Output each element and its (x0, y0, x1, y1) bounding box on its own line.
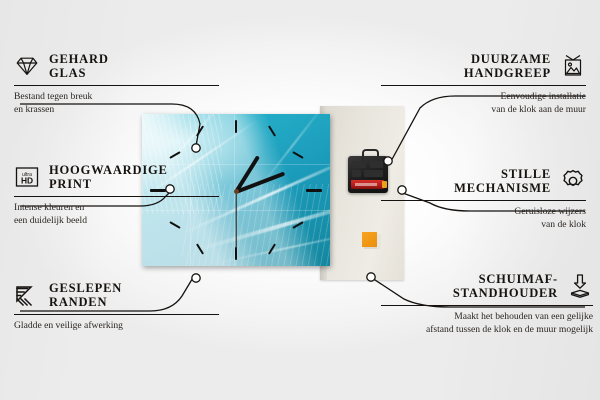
title-line: SCHUIMAF- (479, 272, 558, 286)
battery-label (355, 183, 377, 186)
foam-spacer-shadow (377, 234, 381, 249)
feature-header: ultra HD HOOGWAARDIGE PRINT (14, 163, 219, 191)
feature-title: HOOGWAARDIGE PRINT (49, 163, 168, 191)
feature-title: GEHARD GLAS (49, 52, 109, 80)
divider (381, 200, 586, 201)
foam-spacer (362, 232, 377, 247)
feature-description: Maakt het behouden van een gelijkeafstan… (381, 311, 593, 337)
mechanism-hook (362, 149, 379, 161)
infographic-canvas: GEHARD GLAS Bestand tegen breuken krasse… (0, 0, 600, 400)
hour-tick (268, 125, 276, 136)
feature-title: GESLEPEN RANDEN (49, 281, 122, 309)
diagonal-lines-icon (14, 282, 40, 308)
feature-description: Intense kleuren eneen duidelijk beeld (14, 202, 219, 228)
mechanism-detail (352, 161, 366, 168)
feature-stille-mechanisme: STILLE MECHANISME Geruisloze wijzersvan … (381, 167, 586, 232)
ultra-hd-icon: ultra HD (14, 164, 40, 190)
second-hand (235, 192, 236, 250)
divider (14, 196, 219, 197)
divider (14, 314, 219, 315)
battery (351, 180, 384, 189)
picture-hanger-icon (560, 53, 586, 79)
divider (381, 85, 586, 86)
mechanism-detail (352, 170, 361, 177)
feature-header: GESLEPEN RANDEN (14, 281, 219, 309)
title-line: MECHANISME (454, 181, 551, 195)
feature-geslepen-randen: GESLEPEN RANDEN Gladde en veilige afwerk… (14, 281, 219, 333)
feature-schuimaf-standhouder: SCHUIMAF- STANDHOUDER Maakt het behouden… (381, 272, 593, 337)
title-line: RANDEN (49, 295, 122, 309)
title-line: PRINT (49, 177, 168, 191)
feature-header: GEHARD GLAS (14, 52, 219, 80)
feature-hoogwaardige-print: ultra HD HOOGWAARDIGE PRINT Intense kleu… (14, 163, 219, 228)
title-line: GLAS (49, 66, 109, 80)
feature-gehard-glas: GEHARD GLAS Bestand tegen breuken krasse… (14, 52, 219, 117)
feature-header: STILLE MECHANISME (381, 167, 586, 195)
feature-title: STILLE MECHANISME (454, 167, 551, 195)
feature-description: Eenvoudige installatievan de klok aan de… (381, 91, 586, 117)
title-line: GESLEPEN (49, 281, 122, 295)
title-line: STANDHOUDER (453, 286, 558, 300)
feature-title: DUURZAME HANDGREEP (464, 52, 551, 80)
hands-center-cap (234, 189, 239, 194)
feature-description: Geruisloze wijzersvan de klok (381, 206, 586, 232)
title-line: HOOGWAARDIGE (49, 163, 168, 177)
title-line: HANDGREEP (464, 66, 551, 80)
feature-title: SCHUIMAF- STANDHOUDER (453, 272, 558, 300)
hour-tick (306, 189, 322, 192)
divider (14, 85, 219, 86)
feature-duurzame-handgreep: DUURZAME HANDGREEP Eenvoudige installati… (381, 52, 586, 117)
feature-description: Gladde en veilige afwerking (14, 320, 219, 333)
svg-text:HD: HD (21, 176, 33, 186)
diamond-icon (14, 53, 40, 79)
divider (381, 305, 593, 306)
feature-header: DUURZAME HANDGREEP (381, 52, 586, 80)
hour-tick (235, 120, 237, 133)
gear-icon (560, 168, 586, 194)
hour-tick (292, 151, 303, 159)
title-line: STILLE (501, 167, 551, 181)
feature-header: SCHUIMAF- STANDHOUDER (381, 272, 593, 300)
feature-description: Bestand tegen breuken krassen (14, 91, 219, 117)
down-arrow-stack-icon (567, 273, 593, 299)
title-line: DUURZAME (471, 52, 551, 66)
title-line: GEHARD (49, 52, 109, 66)
